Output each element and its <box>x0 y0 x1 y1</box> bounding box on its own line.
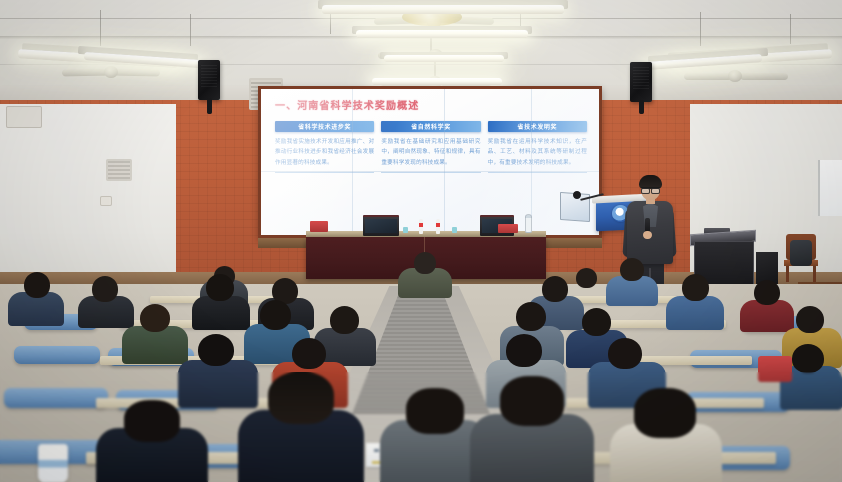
slide-column: 省技术发明奖 奖励我省在运用科学技术知识，在产品、工艺、材料及其系统等研制过程中… <box>488 121 587 173</box>
ceiling-fan <box>62 66 160 80</box>
presenter-hand <box>643 231 652 239</box>
column-body: 奖励我省在运用科学技术知识，在产品、工艺、材料及其系统等研制过程中，有重要技术发… <box>488 137 587 168</box>
fluorescent-tube-light <box>356 30 528 38</box>
fluorescent-tube-light <box>322 5 564 14</box>
slide-column: 省科学技术进步奖 奖励我省实施技术开发和应用推广、对推动行业科技进步和我省经济社… <box>275 121 374 173</box>
column-body: 奖励我省实施技术开发和应用推广、对推动行业科技进步和我省经济社会发展作用显著的科… <box>275 137 374 168</box>
shoulder-bag <box>790 240 812 266</box>
slide-columns: 省科学技术进步奖 奖励我省实施技术开发和应用推广、对推动行业科技进步和我省经济社… <box>275 121 587 173</box>
cup <box>403 227 408 233</box>
lecture-hall-photo: 一、河南省科学技术奖励概述 省科学技术进步奖 奖励我省实施技术开发和应用推广、对… <box>0 0 842 482</box>
projection-screen-frame: 一、河南省科学技术奖励概述 省科学技术进步奖 奖励我省实施技术开发和应用推广、对… <box>258 86 602 238</box>
cup <box>452 227 457 233</box>
thermos <box>525 214 532 233</box>
fluorescent-tube-light <box>384 55 504 62</box>
chair-leg <box>786 266 789 282</box>
left-wall-panel <box>0 104 176 286</box>
speaker-bracket <box>639 100 644 114</box>
light-hanger <box>790 14 791 44</box>
light-hanger <box>190 14 191 46</box>
wall-plate <box>6 106 42 128</box>
red-folder <box>310 221 328 232</box>
light-hanger <box>700 12 701 46</box>
glasses-icon <box>641 187 660 192</box>
column-header: 省科学技术进步奖 <box>275 121 374 132</box>
column-rule <box>275 172 374 173</box>
water-bottle <box>419 219 423 234</box>
wall-speaker <box>630 62 652 102</box>
slide-title: 一、河南省科学技术奖励概述 <box>275 97 587 112</box>
ceiling-fan <box>684 70 788 84</box>
red-bag <box>758 356 792 382</box>
column-rule <box>488 172 587 173</box>
wall-outlet <box>100 196 112 206</box>
column-header: 省自然科学奖 <box>381 121 480 132</box>
air-vent <box>106 159 132 181</box>
column-header: 省技术发明奖 <box>488 121 587 132</box>
column-body: 奖励我省在基础研究和应用基础研究中，阐明自然现象、特征和规律，具有重要科学发现的… <box>381 137 480 168</box>
light-hanger <box>100 10 101 46</box>
slide-column: 省自然科学奖 奖励我省在基础研究和应用基础研究中，阐明自然现象、特征和规律，具有… <box>381 121 480 173</box>
projection-screen: 一、河南省科学技术奖励概述 省科学技术进步奖 奖励我省实施技术开发和应用推广、对… <box>261 89 599 235</box>
column-rule <box>381 172 480 173</box>
laptop <box>363 215 399 236</box>
whiteboard <box>818 160 842 216</box>
red-folder <box>498 224 518 233</box>
chair-leg <box>813 266 816 282</box>
wall-speaker <box>198 60 220 100</box>
fluorescent-tube-light <box>372 78 502 85</box>
vacuum-flask <box>38 444 68 482</box>
speaker-bracket <box>207 98 212 114</box>
podium-microphone-icon <box>573 191 581 199</box>
slide-content: 一、河南省科学技术奖励概述 省科学技术进步奖 奖励我省实施技术开发和应用推广、对… <box>275 97 587 229</box>
water-bottle <box>436 219 440 234</box>
